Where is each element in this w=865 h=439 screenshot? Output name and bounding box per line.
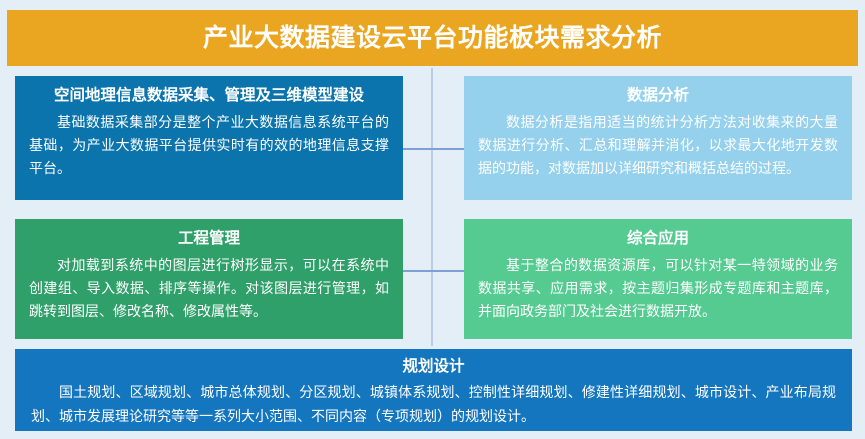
card-body-project-management: 对加载到系统中的图层进行树形显示，可以在系统中创建组、导入数据、排序等操作。对该… (29, 254, 389, 322)
card-title-spatial-geo: 空间地理信息数据采集、管理及三维模型建设 (29, 84, 389, 107)
page-title: 产业大数据建设云平台功能板块需求分析 (203, 26, 662, 51)
card-title-project-management: 工程管理 (29, 227, 389, 250)
card-title-planning-design: 规划设计 (31, 355, 836, 378)
card-body-spatial-geo: 基础数据采集部分是整个产业大数据信息系统平台的基础，为产业大数据平台提供实时有的… (29, 111, 389, 179)
card-title-comprehensive-application: 综合应用 (478, 227, 838, 250)
header-banner: 产业大数据建设云平台功能板块需求分析 (7, 10, 858, 66)
card-body-planning-design: 国土规划、区域规划、城市总体规划、分区规划、城镇体系规划、控制性详细规划、修建性… (31, 381, 836, 428)
card-comprehensive-application: 综合应用 基于整合的数据资源库，可以针对某一特领域的业务数据共享、应用需求，按主… (464, 219, 852, 339)
card-planning-design: 规划设计 国土规划、区域规划、城市总体规划、分区规划、城镇体系规划、控制性详细规… (15, 349, 852, 431)
card-spatial-geo-information: 空间地理信息数据采集、管理及三维模型建设 基础数据采集部分是整个产业大数据信息系… (15, 76, 403, 200)
card-project-management: 工程管理 对加载到系统中的图层进行树形显示，可以在系统中创建组、导入数据、排序等… (15, 219, 403, 339)
card-data-analysis: 数据分析 数据分析是指用适当的统计分析方法对收集来的大量数据进行分析、汇总和理解… (464, 76, 852, 200)
card-body-comprehensive-application: 基于整合的数据资源库，可以针对某一特领域的业务数据共享、应用需求，按主题归集形成… (478, 254, 838, 322)
card-title-data-analysis: 数据分析 (478, 84, 838, 107)
diagram-canvas: 产业大数据建设云平台功能板块需求分析 空间地理信息数据采集、管理及三维模型建设 … (0, 0, 865, 439)
connector-vertical-spine (431, 68, 433, 346)
card-body-data-analysis: 数据分析是指用适当的统计分析方法对收集来的大量数据进行分析、汇总和理解并消化，以… (478, 111, 838, 179)
